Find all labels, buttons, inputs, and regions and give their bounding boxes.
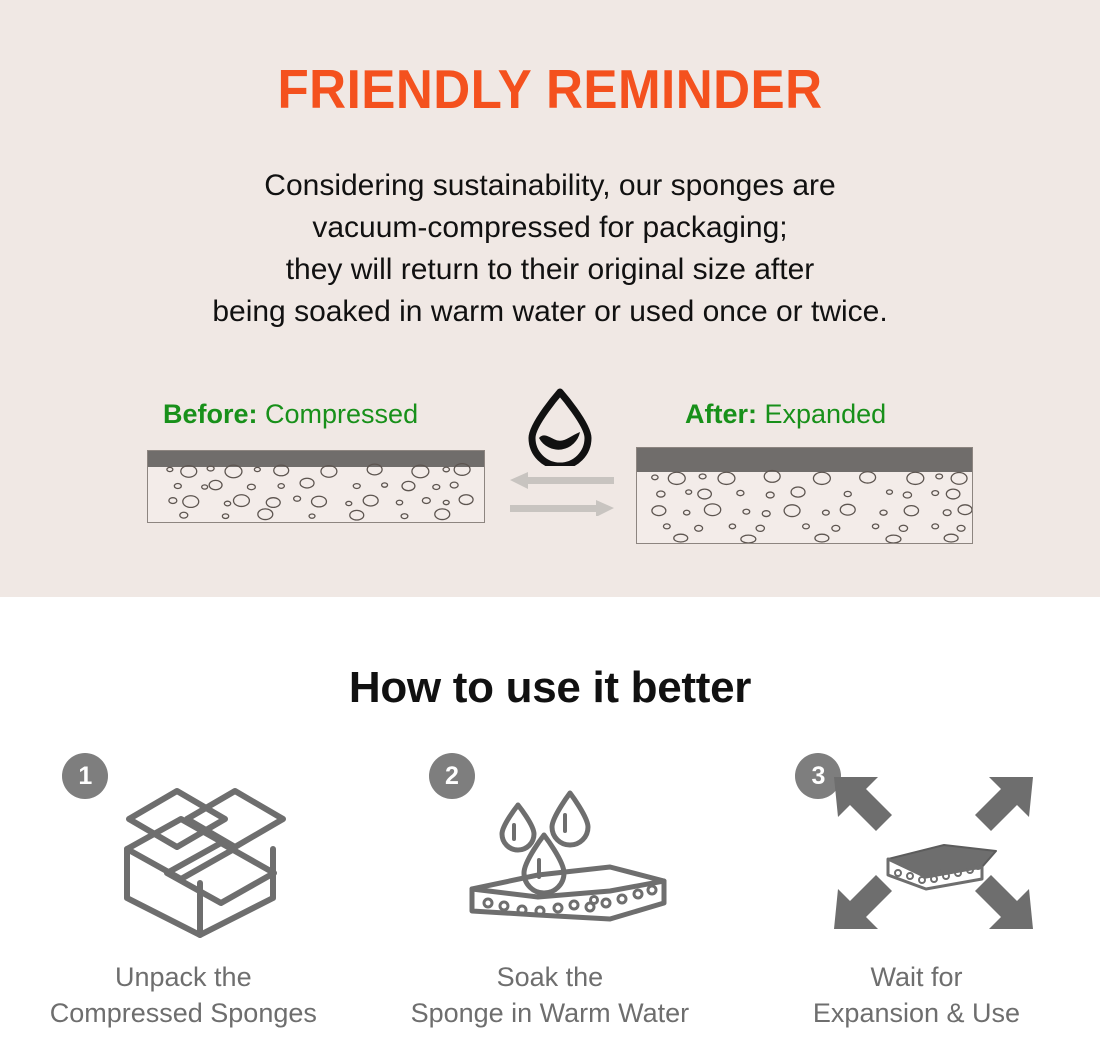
- body-line-1: Considering sustainability, our sponges …: [0, 165, 1100, 207]
- step-caption-line1: Soak the: [411, 959, 690, 995]
- step-artwork: 3: [791, 745, 1041, 945]
- steps-list: 1 Unpack the Compressed Sp: [0, 745, 1100, 1031]
- body-line-3: they will return to their original size …: [0, 249, 1100, 291]
- step-caption: Soak the Sponge in Warm Water: [411, 959, 690, 1031]
- step-caption: Unpack the Compressed Sponges: [50, 959, 317, 1031]
- expansion-arrows-sponge-icon: [826, 763, 1041, 943]
- after-label-lead: After:: [685, 399, 757, 429]
- before-label-lead: Before:: [163, 399, 258, 429]
- bidirectional-arrows-icon: [510, 472, 614, 516]
- water-drop-icon: [524, 388, 596, 466]
- sponge-expanded-illustration: [636, 447, 973, 544]
- after-label: After: Expanded: [685, 399, 886, 430]
- section-title: How to use it better: [0, 663, 1100, 713]
- infographic-page: FRIENDLY REMINDER Considering sustainabi…: [0, 0, 1100, 1039]
- water-drops-on-sponge-icon: [460, 763, 675, 943]
- step-artwork: 1: [58, 745, 308, 945]
- after-label-value: Expanded: [765, 399, 887, 429]
- body-line-4: being soaked in warm water or used once …: [0, 291, 1100, 333]
- step-caption-line2: Sponge in Warm Water: [411, 995, 690, 1031]
- step-item: 1 Unpack the Compressed Sp: [0, 745, 367, 1031]
- body-line-2: vacuum-compressed for packaging;: [0, 207, 1100, 249]
- step-item: 3: [733, 745, 1100, 1031]
- sponge-pores-icon: [148, 451, 484, 522]
- step-caption: Wait for Expansion & Use: [813, 959, 1020, 1031]
- sponge-compressed-illustration: [147, 450, 485, 523]
- before-label-value: Compressed: [265, 399, 418, 429]
- step-caption-line1: Unpack the: [50, 959, 317, 995]
- step-caption-line1: Wait for: [813, 959, 1020, 995]
- step-caption-line2: Compressed Sponges: [50, 995, 317, 1031]
- page-title: FRIENDLY REMINDER: [39, 57, 1062, 121]
- step-artwork: 2: [425, 745, 675, 945]
- reminder-panel: FRIENDLY REMINDER Considering sustainabi…: [0, 0, 1100, 597]
- reminder-body-text: Considering sustainability, our sponges …: [0, 165, 1100, 333]
- before-label: Before: Compressed: [163, 399, 418, 430]
- step-caption-line2: Expansion & Use: [813, 995, 1020, 1031]
- sponge-pores-icon: [637, 448, 972, 543]
- step-item: 2: [367, 745, 734, 1031]
- open-box-icon: [93, 763, 308, 943]
